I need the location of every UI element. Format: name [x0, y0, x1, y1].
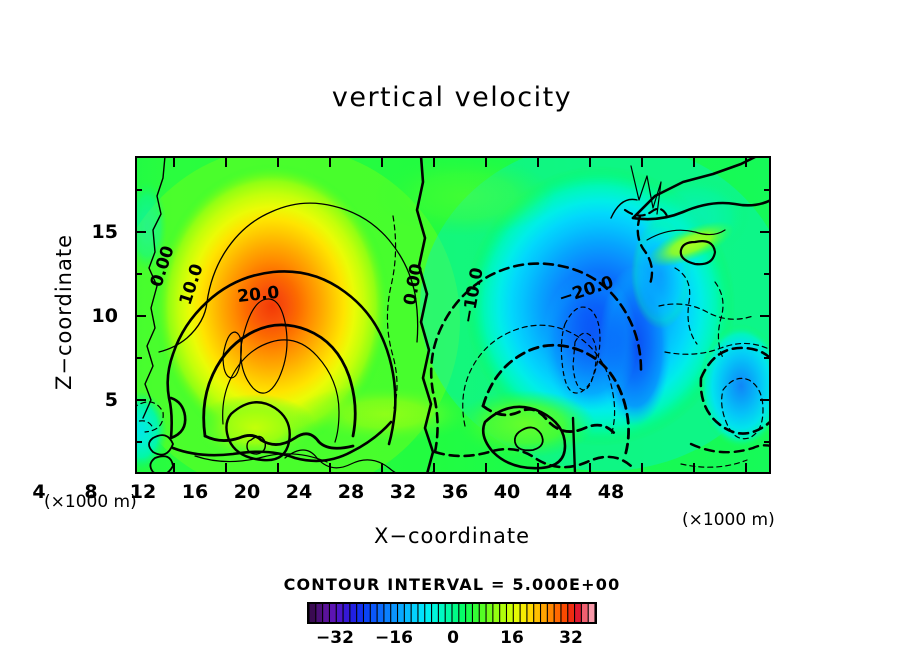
colorbar-band	[391, 604, 397, 622]
colorbar-band	[527, 604, 533, 622]
colorbar-band	[453, 604, 459, 622]
colorbar-band	[459, 604, 465, 622]
colorbar-band	[371, 604, 377, 622]
x-unit-label-left: (×1000 m)	[44, 492, 137, 512]
colorbar-band	[473, 604, 479, 622]
colorbar-band	[432, 604, 438, 622]
colorbar-band	[330, 604, 336, 622]
x-unit-label-right: (×1000 m)	[682, 510, 775, 530]
y-tick-10: 10	[88, 305, 118, 327]
colorbar-band	[446, 604, 452, 622]
y-tick-5: 5	[88, 389, 118, 411]
x-tick-32: 32	[383, 481, 423, 503]
colorbar-band	[514, 604, 520, 622]
colorbar-band	[589, 604, 595, 622]
colorbar-band	[337, 604, 343, 622]
colorbar-band	[521, 604, 527, 622]
x-tick-44: 44	[539, 481, 579, 503]
colorbar-band	[425, 604, 431, 622]
colorbar-band	[439, 604, 445, 622]
y-axis-title: Z−coordinate	[52, 212, 76, 412]
colorbar-band	[541, 604, 547, 622]
lower-mid-warm	[295, 384, 475, 444]
colorbar-tick-0: 0	[431, 628, 475, 648]
colorbar-band	[378, 604, 384, 622]
colorbar-band	[419, 604, 425, 622]
contour-interval-caption: CONTOUR INTERVAL = 5.000E+00	[0, 575, 904, 594]
contour-plot-figure: vertical velocity	[0, 0, 904, 654]
colorbar-band	[323, 604, 329, 622]
colorbar-band	[412, 604, 418, 622]
colorbar-tick--32: −32	[313, 628, 357, 648]
upper-mid-soft	[375, 156, 555, 236]
colorbar-band	[534, 604, 540, 622]
x-tick-24: 24	[279, 481, 319, 503]
colorbar-tick-32: 32	[549, 628, 593, 648]
x-tick-20: 20	[227, 481, 267, 503]
colorbar-band	[555, 604, 561, 622]
colorbar-band	[562, 604, 568, 622]
colorbar-band	[507, 604, 513, 622]
colorbar-band	[398, 604, 404, 622]
colorbar-band	[493, 604, 499, 622]
page-title: vertical velocity	[0, 82, 904, 113]
colorbar-band	[548, 604, 554, 622]
colorbar-band	[364, 604, 370, 622]
field-layer: 0.00 10.0 20.0 0.00 −10.0 −20.0	[135, 156, 771, 474]
contour-plot-canvas: 0.00 10.0 20.0 0.00 −10.0 −20.0	[135, 156, 771, 474]
y-tick-15: 15	[88, 221, 118, 243]
colorbar-band	[350, 604, 356, 622]
colorbar-band	[582, 604, 588, 622]
colorbar-band	[384, 604, 390, 622]
x-tick-48: 48	[591, 481, 631, 503]
colorbar-band	[316, 604, 322, 622]
colorbar-band	[568, 604, 574, 622]
colorbar-band	[405, 604, 411, 622]
colorbar-band	[480, 604, 486, 622]
colorbar	[307, 602, 597, 624]
colorbar-tick-16: 16	[490, 628, 534, 648]
x-tick-40: 40	[487, 481, 527, 503]
colorbar-band	[344, 604, 350, 622]
colorbar-band	[487, 604, 493, 622]
colorbar-band	[575, 604, 581, 622]
colorbar-band	[357, 604, 363, 622]
x-tick-36: 36	[435, 481, 475, 503]
colorbar-band	[500, 604, 506, 622]
x-tick-16: 16	[175, 481, 215, 503]
colorbar-band	[466, 604, 472, 622]
colorbar-tick--16: −16	[372, 628, 416, 648]
x-tick-28: 28	[331, 481, 371, 503]
colorbar-band	[310, 604, 316, 622]
